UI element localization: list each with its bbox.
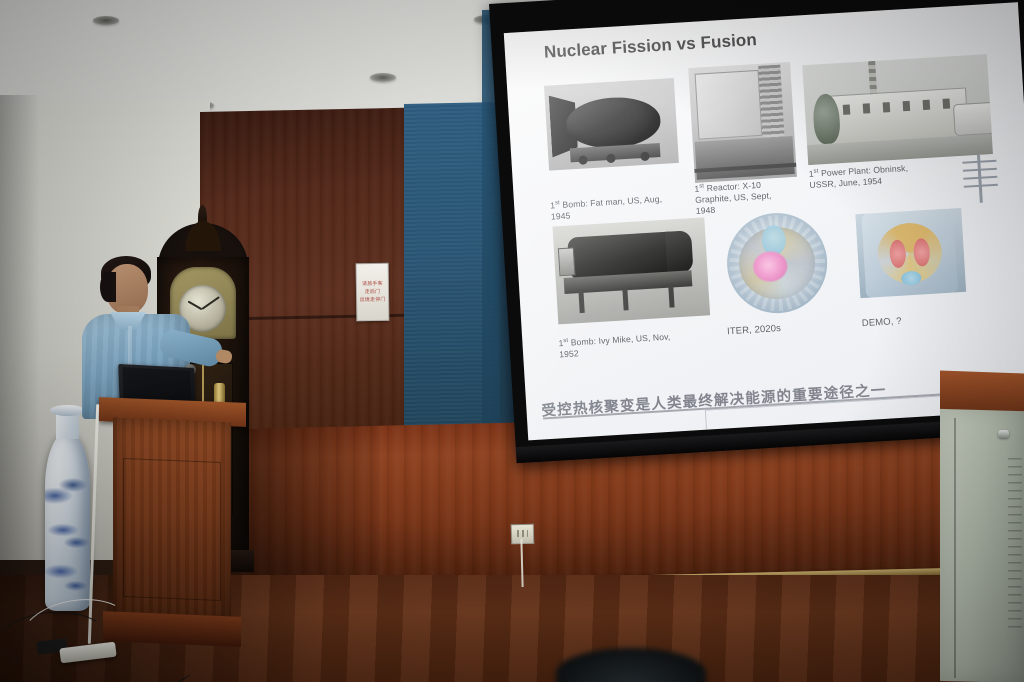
obninsk-bus [953,102,993,137]
wall-sign-line-2: 走后门 [365,289,381,294]
obninsk-window-3 [883,102,891,112]
podium-front-panel [113,418,231,628]
ivy-mike-panel [558,247,576,276]
caption-fat-man: 1st Bomb: Fat man, US, Aug, 1945 [550,190,691,222]
downlight-1 [93,16,119,25]
image-obninsk-plant [802,54,993,165]
slide-title: Nuclear Fission vs Fusion [543,30,757,63]
metal-storage-cabinet [940,372,1024,682]
obninsk-window-2 [863,103,871,113]
obninsk-window-4 [903,101,911,111]
x10-tower [758,65,785,144]
cabinet-lock-icon[interactable] [998,430,1009,438]
caption-ivy-mike: 1st Bomb: Ivy Mike, US, Nov, 1952 [558,327,709,360]
ivy-mike-leg-1 [578,291,584,313]
caption-iter: ITER, 2020s [727,323,781,337]
left-wall-shadow [0,95,40,575]
ivy-mike-leg-2 [622,288,628,310]
wall-sign-line-1: 请旅手客 [362,281,383,286]
bomb-wheel-2 [606,154,616,164]
image-demo-tokamak [855,196,970,314]
obninsk-chimney [868,61,877,97]
wall-notice-sign: 请旅手客 走后门 出境走停门 [356,263,390,321]
obninsk-window-5 [923,100,931,110]
vase-body [45,431,90,611]
ivy-mike-end-cap [665,230,693,273]
obninsk-window-6 [943,98,951,108]
ivy-mike-leg-3 [668,285,674,307]
wall-power-outlet[interactable] [511,524,535,545]
image-x10-reactor [688,62,797,183]
cabinet-door-seam [954,418,956,678]
presenter-hair-side [100,272,116,302]
x10-reactor-building [695,70,763,140]
caption-demo: DEMO, ? [862,316,902,329]
bomb-wheel-3 [640,152,650,162]
downlight-3 [370,73,396,82]
vase-landscape-pattern [45,431,90,611]
image-fat-man-bomb [544,78,679,171]
image-power-pylon [960,154,1001,204]
bomb-wheel-1 [578,155,588,165]
lecture-hall-photo: 请旅手客 走后门 出境走停门 [0,0,1024,682]
cabinet-vent-slots [1008,458,1022,628]
obninsk-window-1 [843,104,851,114]
wall-sign-line-3: 出境走停门 [360,297,386,302]
bomb-casing [565,95,662,151]
porcelain-floor-vase [41,403,94,611]
vase-lip [50,405,85,416]
image-ivy-mike [553,217,711,324]
image-iter-tokamak [720,204,835,322]
x10-foundation [695,136,795,180]
